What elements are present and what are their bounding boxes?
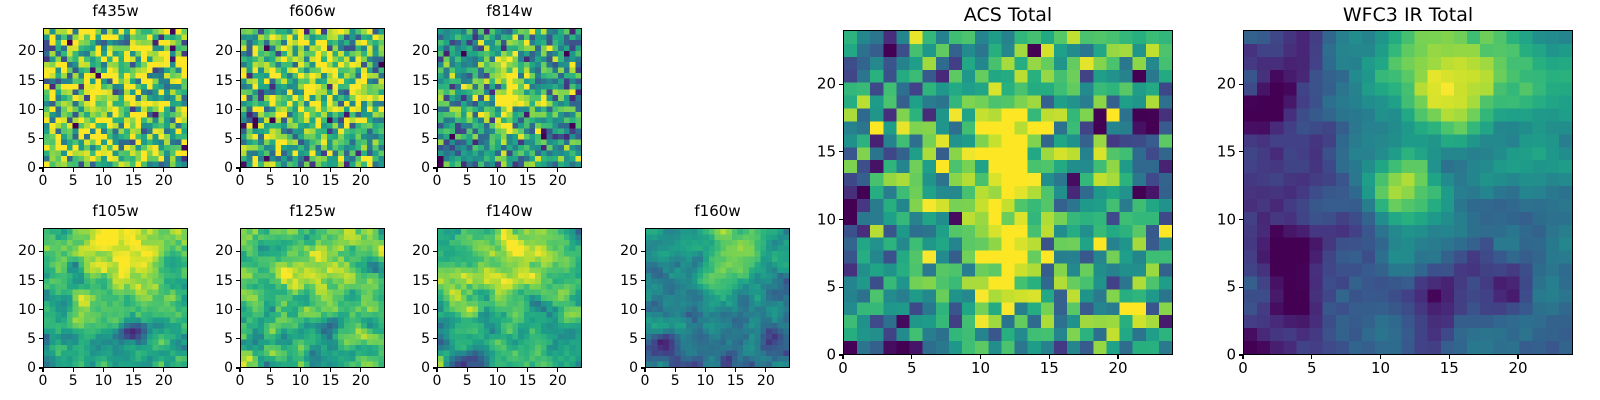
y-tick xyxy=(1239,151,1243,152)
heatmap-image xyxy=(438,229,581,367)
y-tick-label: 0 xyxy=(421,361,430,375)
y-tick xyxy=(433,338,437,339)
y-tick xyxy=(39,109,43,110)
x-tick xyxy=(360,368,361,372)
y-tick-label: 5 xyxy=(826,280,836,295)
x-tick-label: 10 xyxy=(971,361,990,376)
y-tick xyxy=(236,280,240,281)
x-tick-label: 20 xyxy=(352,174,370,188)
y-tick xyxy=(39,80,43,81)
y-tick xyxy=(839,354,843,355)
y-tick-label: 10 xyxy=(215,303,233,317)
x-tick-label: 20 xyxy=(1108,361,1127,376)
panel-title: WFC3 IR Total xyxy=(1243,6,1573,25)
x-tick-label: 10 xyxy=(94,374,112,388)
heatmap-axes xyxy=(240,28,385,168)
y-tick-label: 0 xyxy=(224,161,233,175)
y-tick-label: 5 xyxy=(27,332,36,346)
y-tick xyxy=(39,367,43,368)
x-tick xyxy=(330,168,331,172)
y-tick-label: 5 xyxy=(224,132,233,146)
x-tick-label: 0 xyxy=(236,374,245,388)
y-tick xyxy=(641,367,645,368)
y-tick xyxy=(236,80,240,81)
x-tick-label: 10 xyxy=(696,374,714,388)
y-tick xyxy=(839,84,843,85)
x-tick-label: 15 xyxy=(519,174,537,188)
heatmap-image xyxy=(241,229,384,367)
x-tick-label: 0 xyxy=(1238,361,1248,376)
y-tick xyxy=(1239,287,1243,288)
heatmap-axes xyxy=(843,30,1173,355)
x-tick-label: 5 xyxy=(907,361,917,376)
y-tick-label: 5 xyxy=(421,132,430,146)
y-tick-label: 5 xyxy=(421,332,430,346)
x-tick-label: 15 xyxy=(322,374,340,388)
x-tick xyxy=(42,368,43,372)
x-tick-label: 20 xyxy=(549,374,567,388)
x-tick xyxy=(436,368,437,372)
y-tick xyxy=(839,287,843,288)
x-tick xyxy=(133,168,134,172)
y-tick xyxy=(839,151,843,152)
heatmap-image xyxy=(44,229,187,367)
y-tick-label: 10 xyxy=(412,303,430,317)
x-tick xyxy=(163,168,164,172)
heatmap-image xyxy=(438,29,581,167)
y-tick xyxy=(1239,354,1243,355)
panel-title: f140w xyxy=(437,204,582,219)
y-tick-label: 0 xyxy=(27,161,36,175)
y-tick-label: 15 xyxy=(215,274,233,288)
y-tick xyxy=(39,280,43,281)
x-tick-label: 15 xyxy=(1440,361,1459,376)
y-tick xyxy=(433,309,437,310)
x-tick-label: 5 xyxy=(463,374,472,388)
x-tick-label: 10 xyxy=(488,374,506,388)
y-tick-label: 10 xyxy=(1217,212,1236,227)
y-tick xyxy=(236,309,240,310)
heatmap-axes xyxy=(240,228,385,368)
panel-title: f606w xyxy=(240,4,385,19)
y-tick xyxy=(236,138,240,139)
y-tick xyxy=(39,338,43,339)
y-tick xyxy=(433,109,437,110)
x-tick-label: 0 xyxy=(838,361,848,376)
y-tick-label: 20 xyxy=(412,244,430,258)
panel-title: f125w xyxy=(240,204,385,219)
y-tick xyxy=(433,80,437,81)
panel-title: ACS Total xyxy=(843,6,1173,25)
heatmap-image xyxy=(44,29,187,167)
panel-acs-total: ACS Total0510152005101520 xyxy=(843,4,1173,381)
x-tick-label: 5 xyxy=(1307,361,1317,376)
y-tick-label: 15 xyxy=(620,274,638,288)
heatmap-axes xyxy=(43,28,188,168)
x-tick xyxy=(467,168,468,172)
y-tick-label: 5 xyxy=(1226,280,1236,295)
y-tick xyxy=(39,138,43,139)
y-tick-label: 15 xyxy=(18,274,36,288)
y-tick-label: 15 xyxy=(18,74,36,88)
x-tick-label: 15 xyxy=(727,374,745,388)
heatmap-axes xyxy=(1243,30,1573,355)
panel-title: f160w xyxy=(645,204,790,219)
x-tick xyxy=(239,368,240,372)
y-tick-label: 20 xyxy=(412,44,430,58)
y-tick-label: 20 xyxy=(215,244,233,258)
y-tick-label: 15 xyxy=(412,74,430,88)
x-tick-label: 0 xyxy=(236,174,245,188)
y-tick xyxy=(1239,84,1243,85)
y-tick xyxy=(433,51,437,52)
y-tick-label: 0 xyxy=(1226,348,1236,363)
x-tick xyxy=(103,368,104,372)
y-tick-label: 10 xyxy=(620,303,638,317)
y-tick xyxy=(433,367,437,368)
y-tick xyxy=(1239,219,1243,220)
x-tick xyxy=(42,168,43,172)
panel-f606w: f606w0510152005101520 xyxy=(240,2,385,194)
x-tick xyxy=(330,368,331,372)
y-tick xyxy=(39,167,43,168)
x-tick-label: 5 xyxy=(671,374,680,388)
heatmap-axes xyxy=(437,28,582,168)
y-tick-label: 10 xyxy=(817,212,836,227)
x-tick xyxy=(675,368,676,372)
panel-f105w: f105w0510152005101520 xyxy=(43,202,188,394)
x-tick xyxy=(270,368,271,372)
x-tick-label: 20 xyxy=(757,374,775,388)
x-tick-label: 10 xyxy=(94,174,112,188)
y-tick xyxy=(839,219,843,220)
y-tick-label: 15 xyxy=(215,74,233,88)
y-tick xyxy=(236,338,240,339)
x-tick xyxy=(300,168,301,172)
y-tick-label: 20 xyxy=(215,44,233,58)
y-tick xyxy=(236,167,240,168)
x-tick xyxy=(765,368,766,372)
y-tick xyxy=(433,280,437,281)
y-tick-label: 10 xyxy=(18,303,36,317)
y-tick xyxy=(236,251,240,252)
y-tick-label: 15 xyxy=(1217,144,1236,159)
x-tick-label: 15 xyxy=(1040,361,1059,376)
x-tick xyxy=(133,368,134,372)
y-tick-label: 15 xyxy=(817,144,836,159)
heatmap-axes xyxy=(437,228,582,368)
x-tick xyxy=(270,168,271,172)
y-tick xyxy=(236,109,240,110)
y-tick-label: 10 xyxy=(215,103,233,117)
x-tick-label: 5 xyxy=(266,374,275,388)
x-tick-label: 10 xyxy=(291,374,309,388)
x-tick-label: 20 xyxy=(1508,361,1527,376)
x-tick-label: 5 xyxy=(266,174,275,188)
x-tick-label: 0 xyxy=(39,174,48,188)
y-tick-label: 10 xyxy=(18,103,36,117)
x-tick xyxy=(300,368,301,372)
x-tick xyxy=(497,168,498,172)
x-tick xyxy=(467,368,468,372)
x-tick xyxy=(527,368,528,372)
x-tick xyxy=(644,368,645,372)
heatmap-image xyxy=(844,31,1172,354)
y-tick xyxy=(433,167,437,168)
panel-wfc3-ir-total: WFC3 IR Total0510152005101520 xyxy=(1243,4,1573,381)
y-tick xyxy=(236,367,240,368)
x-tick-label: 20 xyxy=(155,174,173,188)
heatmap-axes xyxy=(43,228,188,368)
x-tick xyxy=(73,368,74,372)
y-tick-label: 0 xyxy=(224,361,233,375)
x-tick-label: 20 xyxy=(549,174,567,188)
x-tick-label: 5 xyxy=(69,374,78,388)
x-tick-label: 15 xyxy=(519,374,537,388)
y-tick-label: 0 xyxy=(629,361,638,375)
y-tick-label: 5 xyxy=(27,132,36,146)
heatmap-image xyxy=(1244,31,1572,354)
y-tick xyxy=(433,251,437,252)
y-tick-label: 20 xyxy=(18,44,36,58)
x-tick-label: 5 xyxy=(463,174,472,188)
panel-f160w: f160w0510152005101520 xyxy=(645,202,790,394)
y-tick-label: 20 xyxy=(817,77,836,92)
panel-title: f105w xyxy=(43,204,188,219)
heatmap-axes xyxy=(645,228,790,368)
panel-f435w: f435w0510152005101520 xyxy=(43,2,188,194)
x-tick-label: 0 xyxy=(433,174,442,188)
y-tick xyxy=(39,309,43,310)
x-tick-label: 10 xyxy=(488,174,506,188)
x-tick xyxy=(527,168,528,172)
x-tick-label: 10 xyxy=(291,174,309,188)
panel-f140w: f140w0510152005101520 xyxy=(437,202,582,394)
heatmap-image xyxy=(646,229,789,367)
x-tick-label: 0 xyxy=(39,374,48,388)
heatmap-image xyxy=(241,29,384,167)
y-tick xyxy=(641,251,645,252)
x-tick xyxy=(497,368,498,372)
y-tick xyxy=(39,251,43,252)
figure-canvas: f435w0510152005101520f606w05101520051015… xyxy=(0,0,1600,400)
panel-title: f814w xyxy=(437,4,582,19)
x-tick xyxy=(735,368,736,372)
y-tick-label: 0 xyxy=(826,348,836,363)
x-tick xyxy=(239,168,240,172)
y-tick xyxy=(433,138,437,139)
x-tick xyxy=(557,168,558,172)
y-tick-label: 5 xyxy=(629,332,638,346)
panel-f814w: f814w0510152005101520 xyxy=(437,2,582,194)
y-tick xyxy=(641,280,645,281)
x-tick-label: 20 xyxy=(352,374,370,388)
x-tick-label: 15 xyxy=(322,174,340,188)
y-tick xyxy=(39,51,43,52)
x-tick xyxy=(103,168,104,172)
y-tick-label: 0 xyxy=(421,161,430,175)
x-tick xyxy=(436,168,437,172)
y-tick-label: 20 xyxy=(18,244,36,258)
x-tick-label: 5 xyxy=(69,174,78,188)
x-tick xyxy=(163,368,164,372)
y-tick-label: 15 xyxy=(412,274,430,288)
y-tick-label: 5 xyxy=(224,332,233,346)
x-tick-label: 15 xyxy=(125,174,143,188)
x-tick xyxy=(360,168,361,172)
x-tick xyxy=(73,168,74,172)
y-tick-label: 20 xyxy=(1217,77,1236,92)
y-tick-label: 0 xyxy=(27,361,36,375)
panel-title: f435w xyxy=(43,4,188,19)
x-tick xyxy=(705,368,706,372)
y-tick xyxy=(641,309,645,310)
x-tick-label: 20 xyxy=(155,374,173,388)
x-tick xyxy=(557,368,558,372)
y-tick-label: 10 xyxy=(412,103,430,117)
y-tick-label: 20 xyxy=(620,244,638,258)
y-tick xyxy=(236,51,240,52)
y-tick xyxy=(641,338,645,339)
panel-f125w: f125w0510152005101520 xyxy=(240,202,385,394)
x-tick-label: 0 xyxy=(433,374,442,388)
x-tick-label: 10 xyxy=(1371,361,1390,376)
x-tick-label: 0 xyxy=(641,374,650,388)
x-tick-label: 15 xyxy=(125,374,143,388)
